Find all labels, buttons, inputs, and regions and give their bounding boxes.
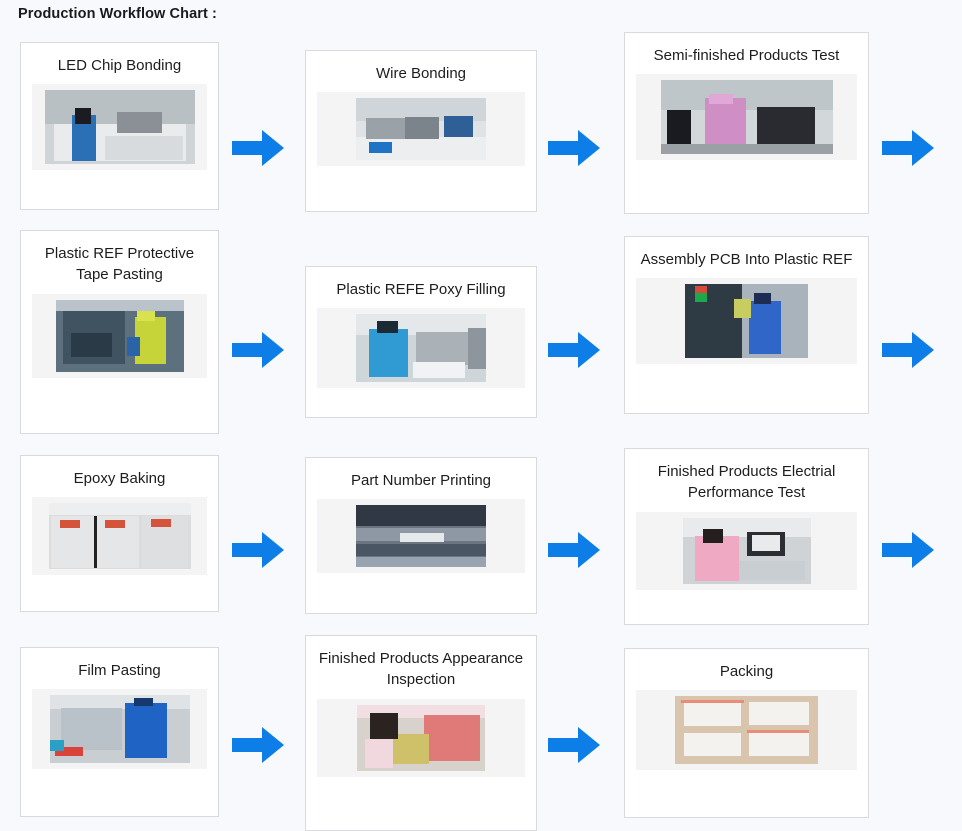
step-photo — [56, 300, 184, 372]
step-image-frame — [317, 308, 525, 388]
page-title: Production Workflow Chart : — [18, 6, 217, 22]
step-title: Finished Products Electrial Performance … — [625, 449, 868, 512]
workflow-step-card[interactable]: Film Pasting — [20, 647, 219, 817]
step-image-frame — [317, 92, 525, 166]
step-photo — [45, 90, 195, 164]
right-arrow-icon — [882, 530, 934, 570]
step-image-frame — [32, 294, 207, 378]
right-arrow-icon — [548, 128, 600, 168]
step-photo — [357, 705, 485, 771]
step-photo — [356, 314, 486, 382]
workflow-step-card[interactable]: Part Number Printing — [305, 457, 537, 614]
step-title: Film Pasting — [21, 648, 218, 689]
step-photo — [661, 80, 833, 154]
right-arrow-icon — [232, 530, 284, 570]
step-photo — [49, 503, 191, 569]
workflow-step-card[interactable]: Semi-finished Products Test — [624, 32, 869, 214]
step-image-frame — [636, 512, 857, 590]
workflow-step-card[interactable]: LED Chip Bonding — [20, 42, 219, 210]
step-title: Finished Products Appearance Inspection — [306, 636, 536, 699]
workflow-step-card[interactable]: Plastic REFE Poxy Filling — [305, 266, 537, 418]
right-arrow-icon — [882, 128, 934, 168]
step-photo — [685, 284, 808, 358]
step-image-frame — [636, 278, 857, 364]
workflow-step-card[interactable]: Packing — [624, 648, 869, 818]
workflow-step-card[interactable]: Finished Products Appearance Inspection — [305, 635, 537, 831]
step-title: Packing — [625, 649, 868, 690]
step-image-frame — [32, 497, 207, 575]
step-photo — [675, 696, 818, 764]
step-photo — [683, 518, 811, 584]
right-arrow-icon — [548, 330, 600, 370]
step-photo — [356, 505, 486, 567]
step-image-frame — [32, 689, 207, 769]
right-arrow-icon — [548, 725, 600, 765]
step-title: Wire Bonding — [306, 51, 536, 92]
step-title: Plastic REF Protective Tape Pasting — [21, 231, 218, 294]
step-image-frame — [317, 699, 525, 777]
step-image-frame — [317, 499, 525, 573]
step-title: Semi-finished Products Test — [625, 33, 868, 74]
workflow-step-card[interactable]: Finished Products Electrial Performance … — [624, 448, 869, 625]
workflow-step-card[interactable]: Wire Bonding — [305, 50, 537, 212]
step-title: LED Chip Bonding — [21, 43, 218, 84]
step-title: Part Number Printing — [306, 458, 536, 499]
workflow-step-card[interactable]: Epoxy Baking — [20, 455, 219, 612]
workflow-step-card[interactable]: Assembly PCB Into Plastic REF — [624, 236, 869, 414]
right-arrow-icon — [232, 330, 284, 370]
step-photo — [50, 695, 190, 763]
right-arrow-icon — [232, 128, 284, 168]
right-arrow-icon — [548, 530, 600, 570]
step-image-frame — [636, 690, 857, 770]
step-title: Assembly PCB Into Plastic REF — [625, 237, 868, 278]
step-title: Epoxy Baking — [21, 456, 218, 497]
step-image-frame — [32, 84, 207, 170]
workflow-step-card[interactable]: Plastic REF Protective Tape Pasting — [20, 230, 219, 434]
right-arrow-icon — [882, 330, 934, 370]
step-image-frame — [636, 74, 857, 160]
step-photo — [356, 98, 486, 160]
step-title: Plastic REFE Poxy Filling — [306, 267, 536, 308]
right-arrow-icon — [232, 725, 284, 765]
